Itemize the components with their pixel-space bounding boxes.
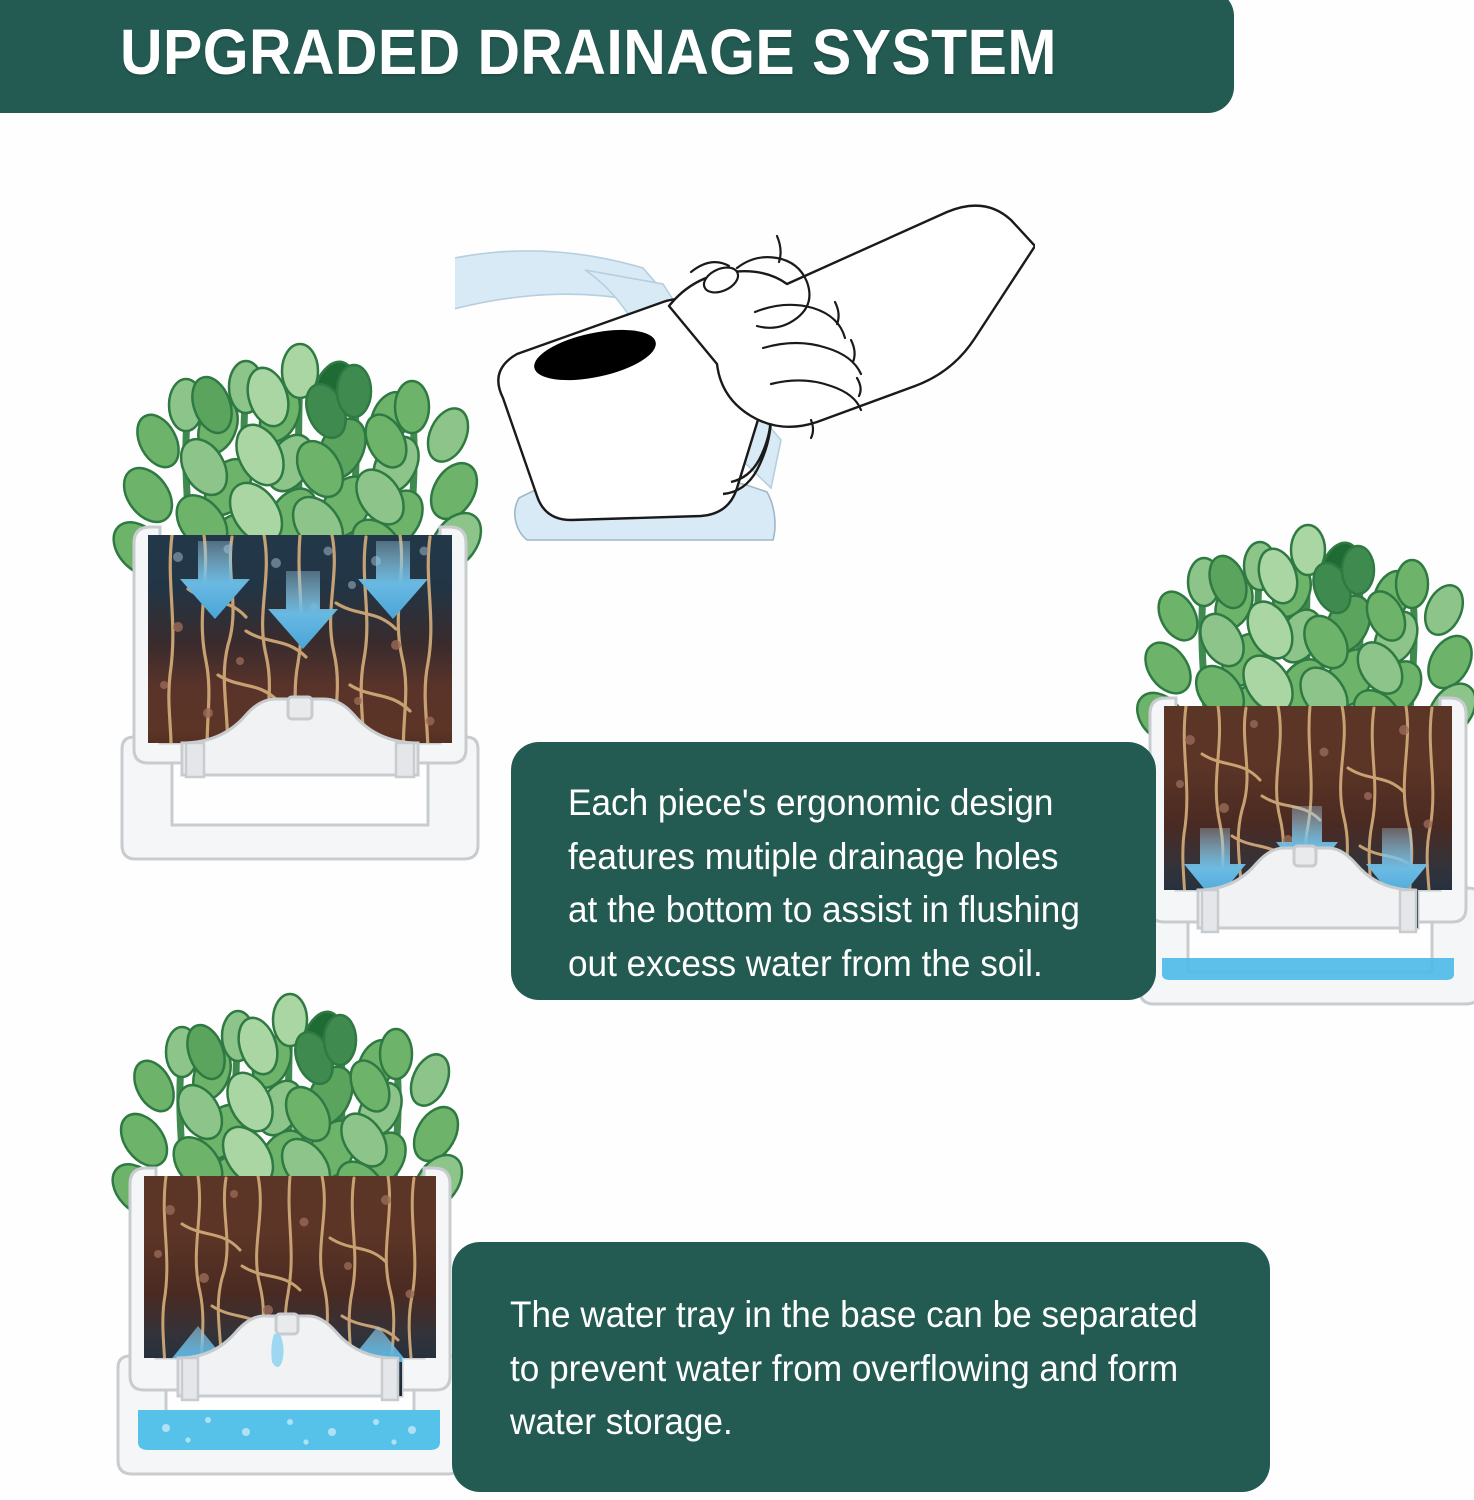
tray-water bbox=[1162, 958, 1454, 980]
header-banner: UPGRADED DRAINAGE SYSTEM bbox=[0, 0, 1234, 113]
callout-water-tray-text: The water tray in the base can be separa… bbox=[510, 1288, 1232, 1449]
planter-watering bbox=[100, 345, 500, 885]
infographic-canvas: UPGRADED DRAINAGE SYSTEM bbox=[0, 0, 1474, 1500]
callout-drainage-holes-text: Each piece's ergonomic design features m… bbox=[568, 776, 1127, 991]
tray-water-full bbox=[138, 1410, 440, 1450]
callout-drainage-holes: Each piece's ergonomic design features m… bbox=[511, 742, 1156, 1000]
planter-storage bbox=[100, 998, 480, 1498]
drip-from-hole bbox=[271, 1334, 283, 1367]
callout-water-tray: The water tray in the base can be separa… bbox=[452, 1242, 1270, 1492]
planter-draining bbox=[1128, 528, 1474, 1038]
page-title: UPGRADED DRAINAGE SYSTEM bbox=[120, 20, 1057, 84]
hand-pouring-watering-can bbox=[455, 140, 1035, 565]
